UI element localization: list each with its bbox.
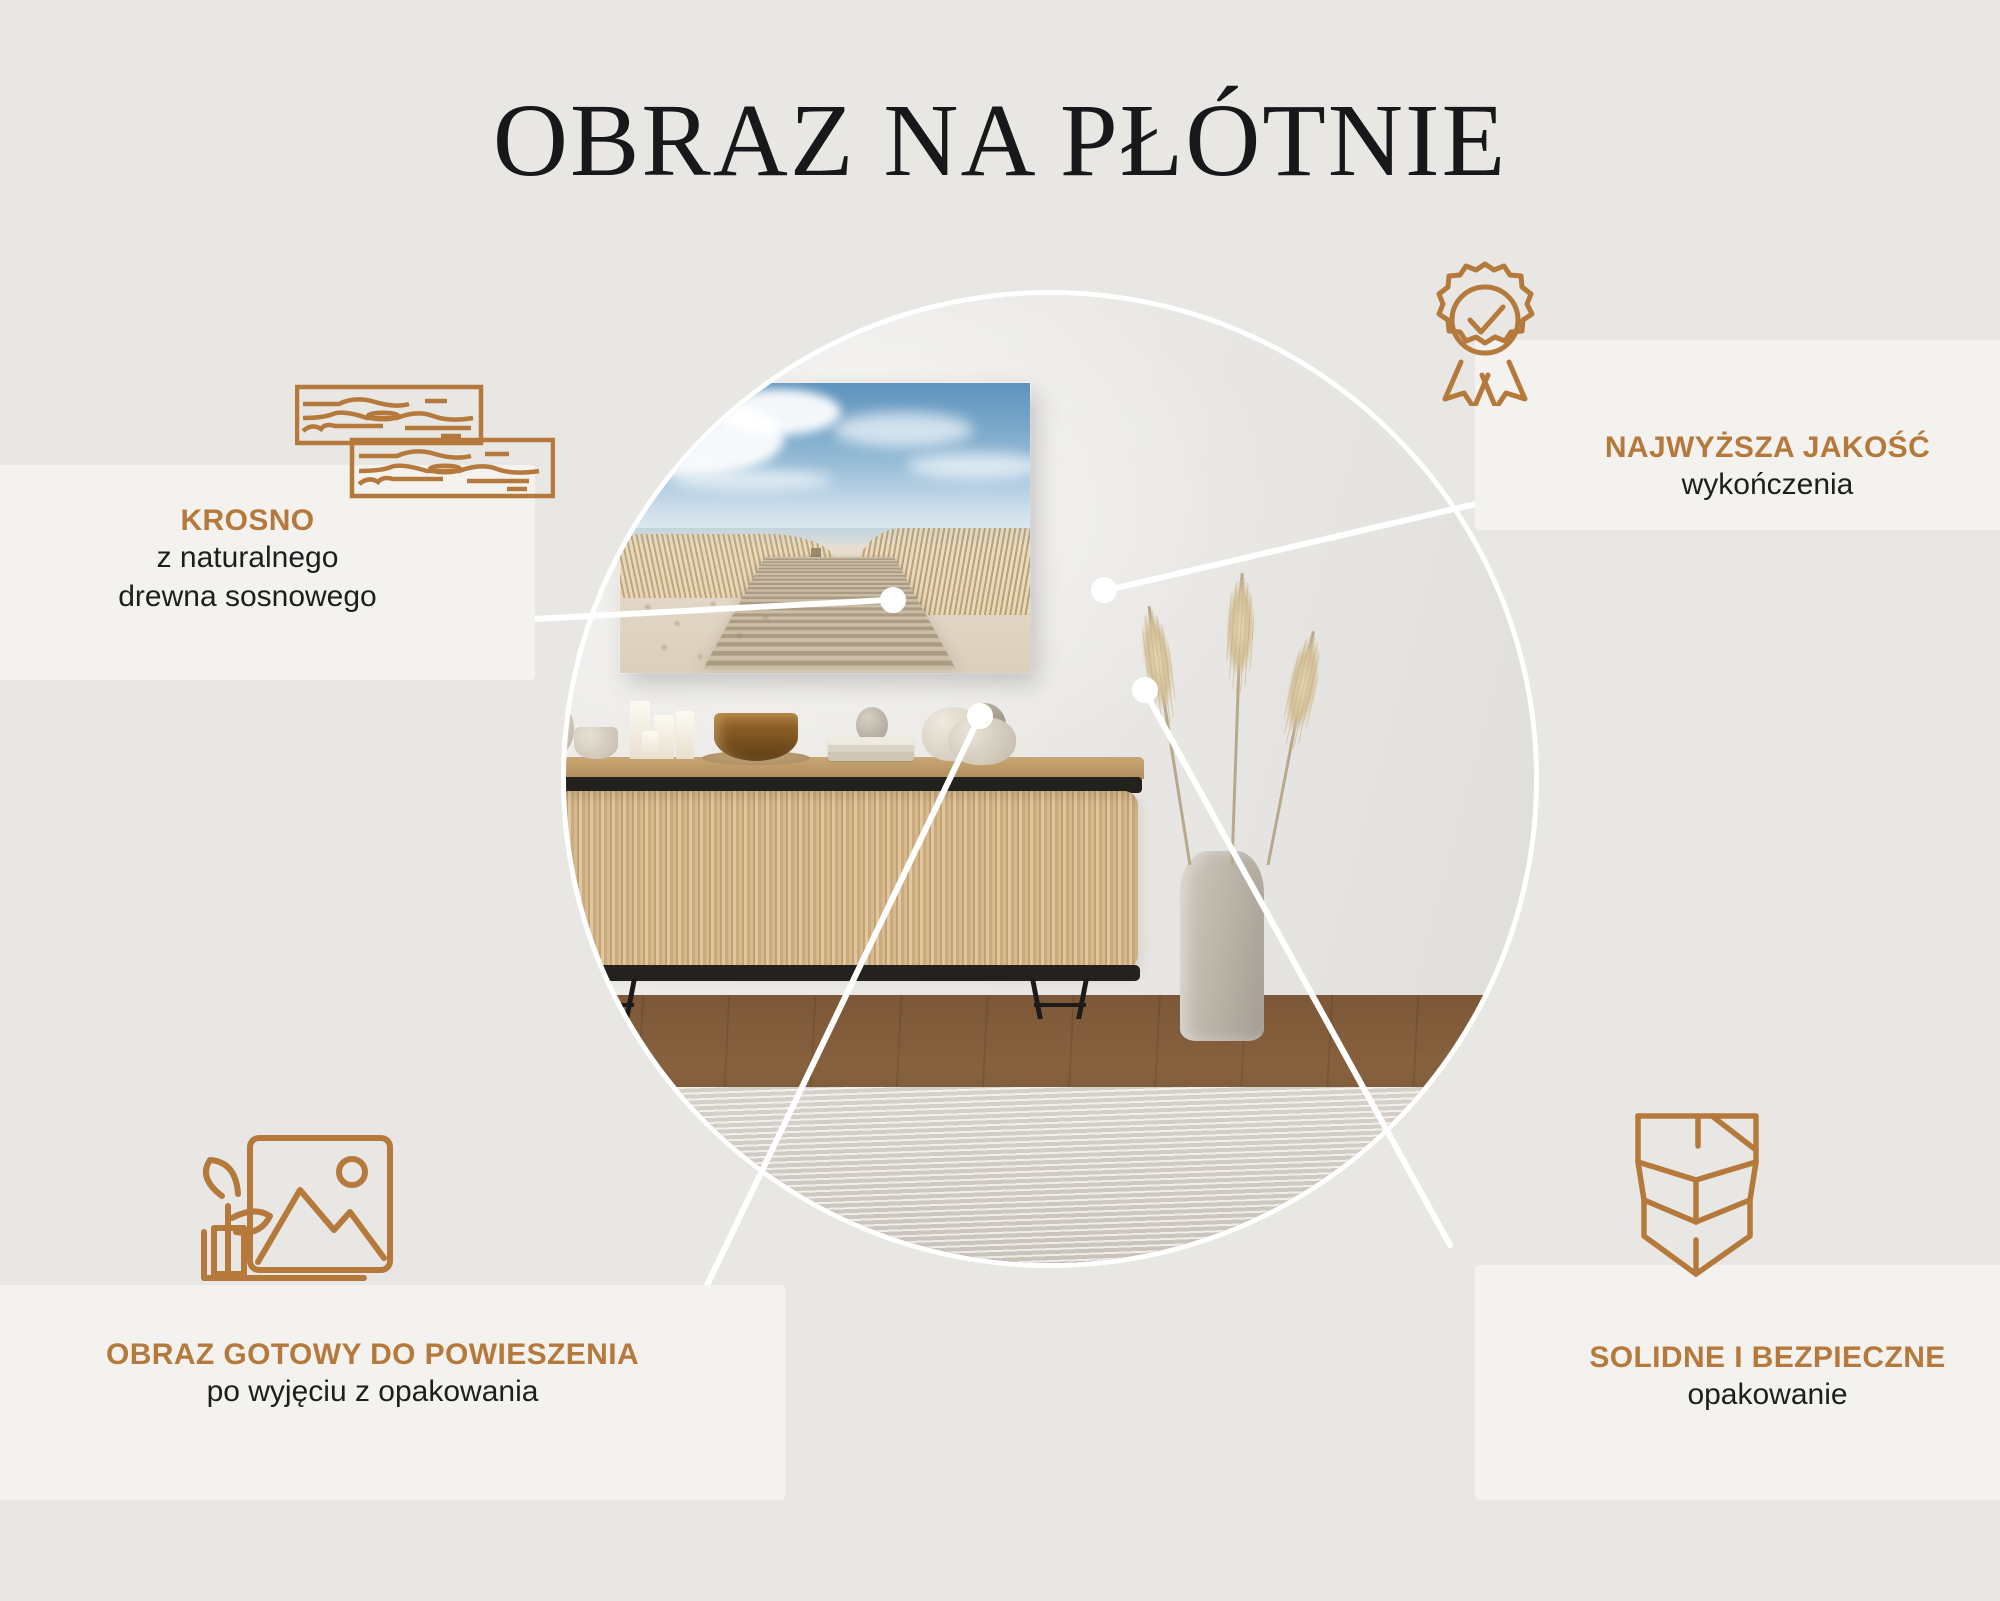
framed-picture-plant-icon: [148, 1132, 428, 1307]
artwork-cloud: [718, 389, 841, 435]
sideboard-leg-brace: [1034, 1003, 1086, 1007]
product-scene-circle: [566, 295, 1534, 1263]
sideboard-leg: [578, 979, 591, 1019]
artwork-footprints: [628, 592, 792, 667]
wood-planks-icon: [295, 384, 555, 504]
sideboard-fluted-doors: [566, 791, 1138, 969]
area-rug: [566, 1087, 1534, 1263]
stacked-books: [828, 737, 914, 761]
feature-title-ready-to-hang: OBRAZ GOTOWY DO POWIESZENIA: [0, 1337, 785, 1372]
pillar-candle: [642, 731, 658, 759]
interior-scene: [566, 295, 1534, 1263]
ceramic-vessel: [948, 717, 1016, 765]
canvas-print-artwork: [620, 383, 1030, 673]
feature-subtitle-quality: wykończenia: [1475, 465, 2000, 504]
sideboard-base-trim: [566, 965, 1140, 981]
small-ceramic-bowl: [574, 727, 618, 759]
feature-card-packaging: SOLIDNE I BEZPIECZNE opakowanie: [1475, 1265, 2000, 1500]
infographic-canvas: OBRAZ NA PŁÓTNIE: [0, 0, 2000, 1601]
feature-subtitle-ready-to-hang: po wyjęciu z opakowania: [0, 1372, 785, 1411]
brass-bowl: [714, 713, 798, 761]
feature-subtitle-packaging: opakowanie: [1475, 1375, 2000, 1414]
feature-title-krosno: KROSNO: [0, 503, 535, 538]
sideboard: [566, 757, 1144, 1015]
feature-subtitle-krosno-line1: z naturalnego: [0, 538, 535, 577]
page-title: OBRAZ NA PŁÓTNIE: [0, 86, 2000, 195]
feature-title-packaging: SOLIDNE I BEZPIECZNE: [1475, 1340, 2000, 1375]
open-box-icon: [1630, 1112, 1780, 1285]
sideboard-leg: [1076, 979, 1089, 1019]
quality-badge-icon: [1425, 258, 1545, 411]
sideboard-leg: [624, 979, 637, 1019]
feature-subtitle-krosno-line2: drewna sosnowego: [0, 577, 535, 616]
feature-card-ready-to-hang: OBRAZ GOTOWY DO POWIESZENIA po wyjęciu z…: [0, 1285, 785, 1500]
feature-title-quality: NAJWYŻSZA JAKOŚĆ: [1475, 430, 2000, 465]
artwork-cloud: [907, 453, 1030, 479]
artwork-cloud: [833, 412, 972, 447]
sideboard-leg-brace: [582, 1003, 634, 1007]
sideboard-leg: [1030, 979, 1043, 1019]
tall-floor-vase: [1180, 851, 1264, 1041]
pillar-candle: [676, 711, 694, 759]
feature-card-quality: NAJWYŻSZA JAKOŚĆ wykończenia: [1475, 340, 2000, 530]
